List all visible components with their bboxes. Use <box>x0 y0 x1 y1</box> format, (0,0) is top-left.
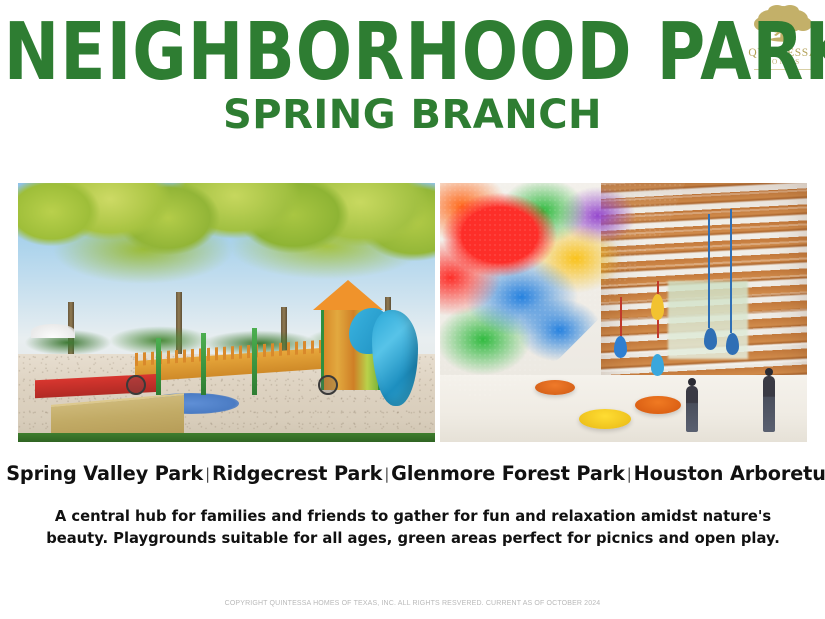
photo-gallery <box>18 183 807 442</box>
copyright-notice: COPYRIGHT QUINTESSA HOMES OF TEXAS, INC.… <box>0 600 825 607</box>
description-line-2: beauty. Playgrounds suitable for all age… <box>46 529 780 547</box>
park-name-list: Spring Valley Park|Ridgecrest Park|Glenm… <box>6 461 819 487</box>
hanging-pod <box>726 333 739 355</box>
net-playscape-photo <box>440 183 807 442</box>
park-separator: | <box>625 465 634 483</box>
hanging-cord <box>708 214 710 328</box>
visitor-figure <box>686 386 698 432</box>
slide-canvas: QUINTESSA HOMES NEIGHBORHOOD PARKS SPRIN… <box>0 0 825 619</box>
shade-umbrella <box>31 324 75 338</box>
visitor-head <box>688 378 696 386</box>
park-name-item: Glenmore Forest Park <box>391 462 625 485</box>
description-line-1: A central hub for families and friends t… <box>55 507 771 525</box>
support-post <box>201 333 206 395</box>
page-subtitle: SPRING BRANCH <box>0 92 825 138</box>
page-title: NEIGHBORHOOD PARKS <box>4 8 756 95</box>
support-post <box>156 338 161 395</box>
visitor-figure <box>763 376 775 432</box>
hanging-pod <box>704 328 717 350</box>
description-text: A central hub for families and friends t… <box>34 505 793 549</box>
orange-ring-seat <box>635 396 681 414</box>
visitor-head <box>765 368 773 376</box>
park-name-item: Ridgecrest Park <box>212 462 382 485</box>
hanging-pod <box>651 354 664 376</box>
grass-strip <box>18 433 435 442</box>
park-separator: | <box>203 465 212 483</box>
park-name-item: Houston Arboretum <box>634 462 825 485</box>
hanging-pod <box>651 294 664 320</box>
park-separator: | <box>382 465 391 483</box>
hanging-cord <box>620 297 622 338</box>
playground-photo <box>18 183 435 442</box>
hanging-cord <box>730 209 732 333</box>
support-post <box>252 328 257 395</box>
park-name-item: Spring Valley Park <box>6 462 203 485</box>
tower-roof <box>313 280 383 310</box>
